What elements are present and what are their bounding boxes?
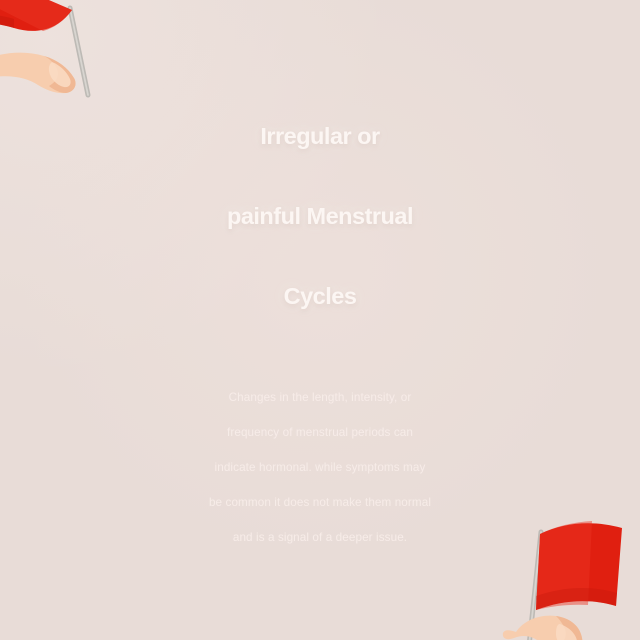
headline-line-2: painful Menstrual — [0, 176, 640, 256]
body-line-2: frequency of menstrual periods can — [60, 415, 580, 450]
body-line-4: be common it does not make them normal — [60, 485, 580, 520]
body-line-5: and is a signal of a deeper issue. — [60, 520, 580, 555]
headline-line-3: Cycles — [0, 256, 640, 336]
poster-canvas: Irregular or painful Menstrual Cycles Ch… — [0, 0, 640, 640]
headline-line-1: Irregular or — [0, 96, 640, 176]
body-line-1: Changes in the length, intensity, or — [60, 380, 580, 415]
body-paragraph: Changes in the length, intensity, or fre… — [0, 380, 640, 555]
body-line-3: indicate hormonal. while symptoms may — [60, 450, 580, 485]
poster-content: Irregular or painful Menstrual Cycles Ch… — [0, 0, 640, 640]
